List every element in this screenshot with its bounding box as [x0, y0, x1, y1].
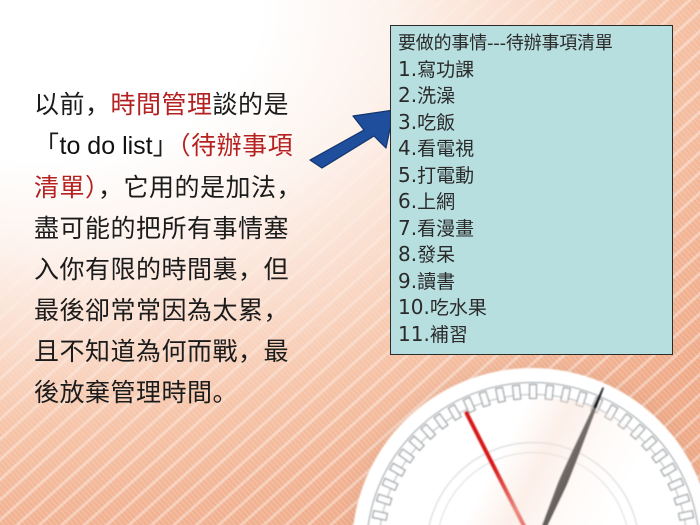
todo-item-number: 3.	[398, 110, 417, 134]
paragraph-line: 最後卻常常因為太累，	[34, 290, 364, 331]
todo-item-number: 5.	[398, 163, 417, 187]
paragraph-line: 盡可能的把所有事情塞	[34, 208, 364, 249]
clock-tick	[529, 384, 537, 399]
paragraph-text-run: 」	[153, 131, 179, 160]
todo-list-item: 4.看電視	[398, 136, 672, 163]
todo-list-item: 11.補習	[398, 322, 672, 349]
paragraph-text-run: 清單）	[34, 173, 98, 202]
paragraph-text-run: to do list	[60, 132, 153, 160]
todo-list-item: 10.吃水果	[398, 295, 672, 322]
paragraph-text-run: 後放棄管理時間。	[34, 378, 238, 407]
paragraph-text-run: 以前，	[34, 90, 111, 119]
paragraph-line: 清單），它用的是加法，	[34, 167, 364, 208]
todo-item-number: 4.	[398, 136, 417, 160]
paragraph-text-run: 「	[34, 131, 60, 160]
todo-list-title: 要做的事情---待辦事項清單	[398, 31, 672, 57]
todo-item-label: 發呆	[417, 244, 455, 266]
todo-item-label: 看電視	[417, 138, 474, 160]
slide-canvas: 以前，時間管理談的是「to do list」（待辦事項清單），它用的是加法，盡可…	[0, 0, 700, 525]
paragraph-text-run: 入你有限的時間裏，但	[34, 255, 289, 284]
todo-list-box: 要做的事情---待辦事項清單 1.寫功課2.洗澡3.吃飯4.看電視5.打電動6.…	[390, 25, 673, 355]
todo-item-number: 6.	[398, 189, 417, 213]
paragraph-line: 後放棄管理時間。	[34, 372, 364, 413]
todo-item-label: 打電動	[417, 165, 474, 187]
paragraph-text-run: （待辦事項	[178, 131, 293, 160]
todo-item-label: 讀書	[417, 271, 455, 293]
todo-item-label: 洗澡	[417, 85, 455, 107]
clock-face	[352, 368, 700, 525]
todo-item-label: 看漫畫	[417, 218, 474, 240]
paragraph-text-run: 盡可能的把所有事情塞	[34, 214, 289, 243]
paragraph-text-run: 時間管理	[111, 90, 213, 119]
todo-item-label: 寫功課	[417, 59, 474, 81]
todo-list-items: 1.寫功課2.洗澡3.吃飯4.看電視5.打電動6.上網7.看漫畫8.發呆9.讀書…	[398, 57, 672, 349]
paragraph-line: 入你有限的時間裏，但	[34, 249, 364, 290]
todo-item-label: 吃水果	[430, 297, 487, 319]
todo-list-trailing-marks: ..	[398, 348, 672, 355]
todo-list-placeholder-dot: .	[398, 348, 672, 355]
todo-list-item: 6.上網	[398, 189, 672, 216]
todo-list-item: 3.吃飯	[398, 110, 672, 137]
todo-list-item: 9.讀書	[398, 269, 672, 296]
todo-item-label: 上網	[417, 191, 455, 213]
todo-list-item: 2.洗澡	[398, 83, 672, 110]
paragraph-line: 且不知道為何而戰，最	[34, 331, 364, 372]
todo-item-label: 補習	[430, 324, 468, 346]
blue-arrow-icon	[306, 108, 398, 170]
todo-list-item: 5.打電動	[398, 163, 672, 190]
todo-list-item: 1.寫功課	[398, 57, 672, 84]
todo-item-label: 吃飯	[417, 112, 455, 134]
todo-list-item: 7.看漫畫	[398, 216, 672, 243]
paragraph-text-run: ，它用的是加法，	[98, 173, 302, 202]
todo-item-number: 2.	[398, 83, 417, 107]
clock-tick	[545, 384, 555, 400]
clock-tick	[512, 384, 522, 400]
todo-item-number: 9.	[398, 269, 417, 293]
todo-item-number: 1.	[398, 57, 417, 81]
todo-item-number: 8.	[398, 242, 417, 266]
todo-item-number: 7.	[398, 216, 417, 240]
paragraph-text-run: 談的是	[213, 90, 290, 119]
clock-image	[352, 368, 700, 525]
todo-item-number: 10.	[398, 295, 430, 319]
paragraph-text-run: 最後卻常常因為太累，	[34, 296, 289, 325]
todo-list-item: 8.發呆	[398, 242, 672, 269]
paragraph-text-run: 且不知道為何而戰，最	[34, 337, 289, 366]
todo-item-number: 11.	[398, 322, 430, 346]
